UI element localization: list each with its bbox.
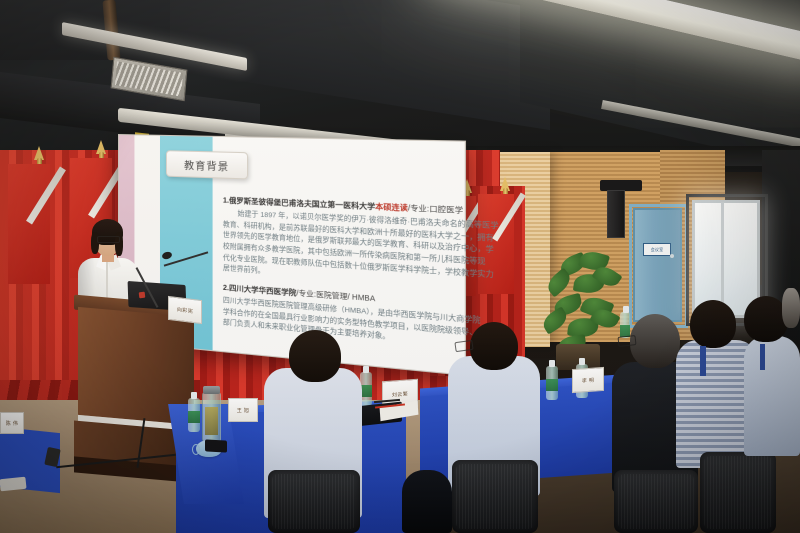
attendee-head	[470, 322, 518, 370]
item-1-major: 口腔医学	[429, 206, 463, 215]
meeting-room-door[interactable]	[633, 208, 682, 322]
water-bottle[interactable]	[188, 398, 200, 432]
attendee-body	[744, 336, 800, 456]
door-knob-icon[interactable]	[670, 254, 674, 258]
table-name-card: 王 旭	[228, 398, 258, 422]
window	[692, 200, 760, 318]
item-2-major: 医院管理	[316, 291, 347, 301]
name-card-label: 李 明	[582, 376, 595, 384]
chair[interactable]	[268, 470, 360, 533]
conference-room-photo: 会议室	[0, 0, 800, 533]
lanyard	[760, 344, 765, 370]
tea-thermos[interactable]	[202, 392, 221, 442]
water-bottle[interactable]	[546, 366, 558, 400]
slide-title-text: 教育背景	[184, 156, 229, 173]
slide-title-badge: 教育背景	[166, 150, 248, 179]
podium-name-card: 向彩宪	[168, 296, 202, 324]
water-bottle[interactable]	[620, 312, 630, 338]
attendee-body	[402, 470, 452, 533]
name-card-label: 刘云繁	[392, 390, 408, 398]
table-name-card: 李 明	[572, 367, 604, 393]
chair[interactable]	[452, 460, 538, 533]
presenter-glasses-icon	[97, 236, 120, 243]
lanyard	[700, 346, 706, 376]
item-1-major-label: 专业:	[410, 205, 429, 214]
table-name-card: 陈 伟	[0, 412, 24, 434]
attendee-head	[782, 288, 800, 328]
name-card-label: 陈 伟	[6, 420, 19, 427]
door-sign-label: 会议室	[651, 247, 664, 253]
item-2-org: 四川大学华西医学院	[229, 285, 296, 297]
podium-name-card-label: 向彩宪	[177, 306, 193, 315]
name-card-label: 王 旭	[237, 407, 250, 414]
window-mullion	[721, 202, 724, 310]
smartphone[interactable]	[205, 439, 227, 452]
item-1-highlight: 本硕连读	[375, 204, 408, 213]
attendee-head	[630, 314, 680, 368]
item-2-program: / HMBA	[348, 294, 376, 304]
item-2-major-label: 专业:	[298, 290, 316, 299]
laptop-logo-icon	[139, 292, 146, 299]
door-sign: 会议室	[643, 243, 671, 256]
wall-speaker-icon	[607, 190, 625, 238]
attendee-head	[289, 330, 341, 382]
attendee-head	[690, 300, 736, 348]
attendee-glasses-icon	[618, 335, 637, 347]
chair[interactable]	[614, 470, 698, 533]
chair[interactable]	[700, 452, 776, 533]
